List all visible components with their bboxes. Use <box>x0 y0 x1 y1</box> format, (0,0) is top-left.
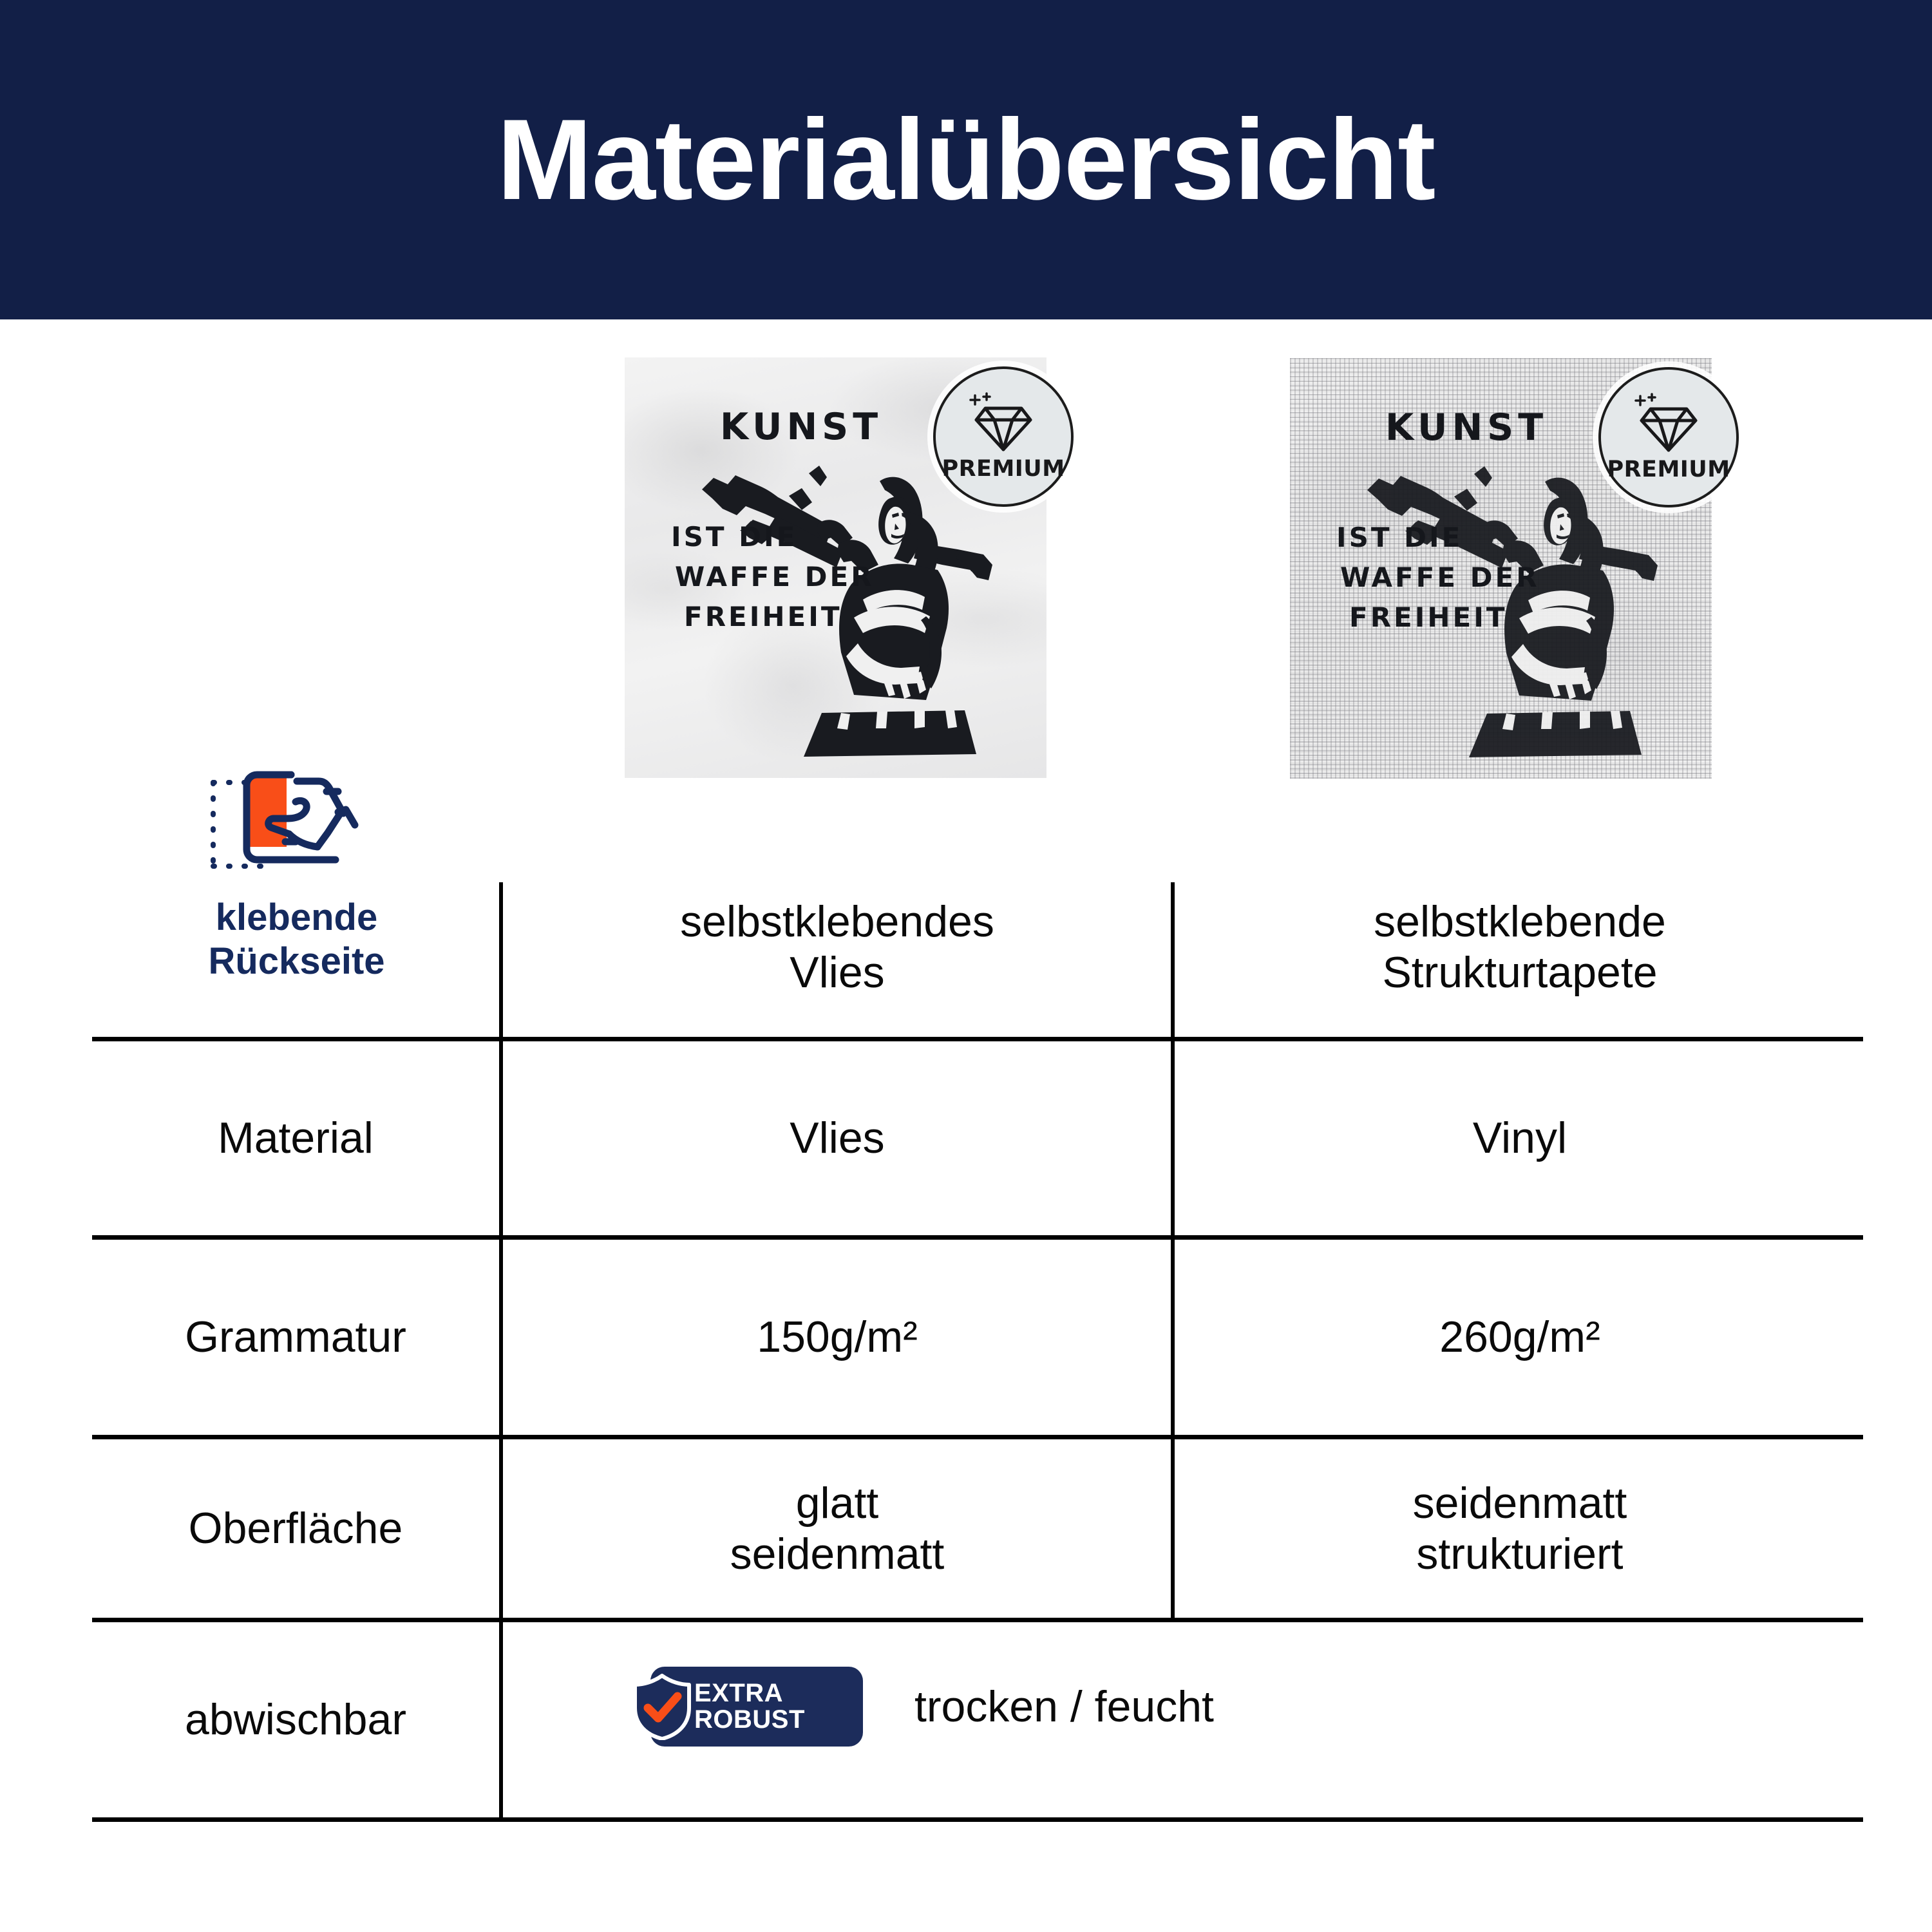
adhesive-vlies-line1: selbstklebendes <box>680 896 994 947</box>
cell-abwischbar-value: trocken / feucht <box>914 1667 1365 1747</box>
row-divider-3 <box>92 1435 1863 1439</box>
robust-line-1: EXTRA <box>694 1680 805 1707</box>
shield-check-icon <box>631 1673 693 1740</box>
oberflaeche-struktur-line1: seidenmatt <box>1413 1478 1627 1529</box>
klebende-rueckseite-label: klebende Rückseite <box>208 896 384 984</box>
cell-grammatur-strukturtapete: 260g/m² <box>1179 1240 1861 1435</box>
material-overview-page: Materialübersicht <box>0 0 1932 1932</box>
cell-material-vinyl: Vinyl <box>1179 1041 1861 1235</box>
row-label-grammatur: Grammatur <box>92 1240 499 1435</box>
cell-oberflaeche-vlies: glatt seidenmatt <box>509 1439 1166 1618</box>
adhesive-struktur-line1: selbstklebende <box>1374 896 1666 947</box>
cell-grammatur-vlies: 150g/m² <box>509 1240 1166 1435</box>
column-divider-2 <box>1171 882 1175 1620</box>
oberflaeche-vlies-line1: glatt <box>730 1478 945 1529</box>
cell-adhesive-vlies: selbstklebendes Vlies <box>509 863 1166 1032</box>
row-label-material: Material <box>92 1041 499 1235</box>
cell-adhesive-strukturtapete: selbstklebende Strukturtapete <box>1179 863 1861 1032</box>
extra-robust-label: EXTRA ROBUST <box>694 1680 805 1733</box>
glue-label-line2: Rückseite <box>208 940 384 982</box>
oberflaeche-struktur-line2: strukturiert <box>1413 1529 1627 1580</box>
adhesive-struktur-line2: Strukturtapete <box>1374 947 1666 998</box>
robust-line-2: ROBUST <box>694 1707 805 1733</box>
glue-label-line1: klebende <box>216 896 377 938</box>
cell-oberflaeche-strukturtapete: seidenmatt strukturiert <box>1179 1439 1861 1618</box>
cell-material-vlies: Vlies <box>509 1041 1166 1235</box>
row-label-abwischbar: abwischbar <box>92 1622 499 1817</box>
row-divider-1 <box>92 1037 1863 1041</box>
material-comparison-table: klebende Rückseite selbstklebendes Vlies… <box>0 0 1932 1932</box>
row-divider-2 <box>92 1235 1863 1240</box>
peeling-sticker-hand-icon <box>200 763 393 885</box>
extra-robust-badge: EXTRA ROBUST <box>650 1667 863 1747</box>
adhesive-vlies-line2: Vlies <box>680 947 994 998</box>
klebende-rueckseite-cell: klebende Rückseite <box>92 763 501 1034</box>
row-divider-5 <box>92 1817 1863 1822</box>
oberflaeche-vlies-line2: seidenmatt <box>730 1529 945 1580</box>
row-label-oberflaeche: Oberfläche <box>92 1439 499 1618</box>
row-divider-4 <box>92 1618 1863 1622</box>
